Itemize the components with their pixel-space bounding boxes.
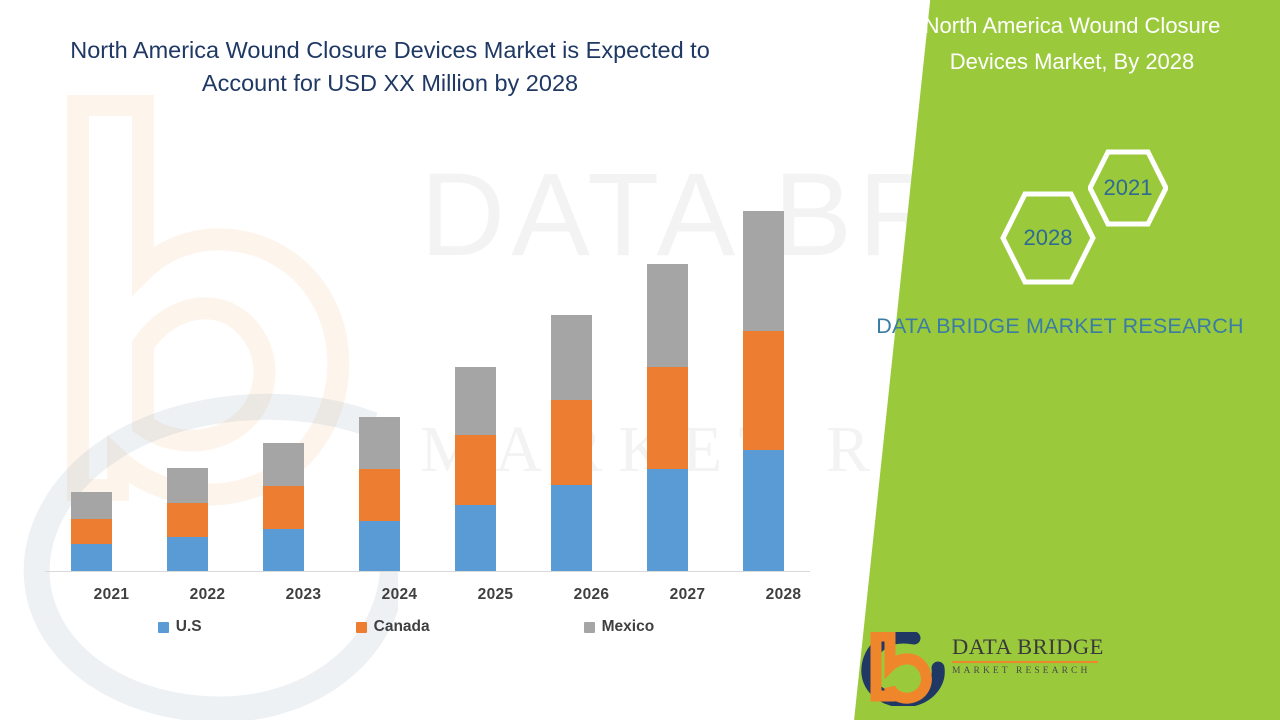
bar-segment-mexico-2027 bbox=[647, 264, 688, 367]
stacked-bar-chart: 20212022202320242025202620272028 bbox=[0, 0, 860, 720]
bar-2026 bbox=[551, 315, 592, 571]
x-axis-label-2026: 2026 bbox=[537, 586, 647, 604]
bar-2022 bbox=[167, 468, 208, 571]
bar-segment-mexico-2025 bbox=[455, 367, 496, 435]
panel-brand-text: DATA BRIDGE MARKET RESEARCH bbox=[860, 310, 1260, 342]
bar-segment-us-2028 bbox=[743, 450, 784, 571]
legend-label: U.S bbox=[176, 618, 202, 636]
hexagon-2021: 2021 bbox=[1088, 148, 1168, 228]
hexagon-2021-label: 2021 bbox=[1088, 148, 1168, 228]
logo-divider bbox=[952, 661, 1098, 663]
hexagon-2028-label: 2028 bbox=[1000, 190, 1096, 286]
x-axis-label-2022: 2022 bbox=[153, 586, 263, 604]
green-background-shape bbox=[840, 0, 1280, 720]
legend-swatch-icon bbox=[158, 622, 169, 633]
logo-sub-text: MARKET RESEARCH bbox=[952, 666, 1102, 676]
x-axis-label-2027: 2027 bbox=[633, 586, 743, 604]
bar-segment-canada-2021 bbox=[71, 519, 112, 544]
infographic-root: DATA BRIDGE MARKET RESEARCH North Americ… bbox=[0, 0, 1280, 720]
x-axis-label-2023: 2023 bbox=[249, 586, 359, 604]
bar-2023 bbox=[263, 443, 304, 571]
legend-label: Canada bbox=[374, 618, 430, 636]
x-axis-label-2025: 2025 bbox=[441, 586, 551, 604]
bar-segment-canada-2027 bbox=[647, 367, 688, 469]
chart-panel: North America Wound Closure Devices Mark… bbox=[0, 0, 860, 720]
panel-title: North America Wound Closure Devices Mark… bbox=[882, 8, 1262, 80]
bar-2024 bbox=[359, 417, 400, 571]
x-axis-label-2028: 2028 bbox=[729, 586, 839, 604]
bar-segment-mexico-2026 bbox=[551, 315, 592, 400]
legend-item-us[interactable]: U.S bbox=[158, 618, 202, 636]
logo-text-block: DATA BRIDGE MARKET RESEARCH bbox=[952, 634, 1102, 676]
x-axis-label-2024: 2024 bbox=[345, 586, 455, 604]
bar-segment-mexico-2024 bbox=[359, 417, 400, 469]
legend-swatch-icon bbox=[584, 622, 595, 633]
bar-segment-canada-2026 bbox=[551, 400, 592, 485]
hexagon-outline-icon bbox=[1000, 190, 1096, 286]
legend-item-mexico[interactable]: Mexico bbox=[584, 618, 655, 636]
legend-label: Mexico bbox=[602, 618, 655, 636]
bar-2028 bbox=[743, 211, 784, 571]
bar-segment-mexico-2022 bbox=[167, 468, 208, 503]
bar-segment-us-2026 bbox=[551, 485, 592, 571]
bar-segment-us-2021 bbox=[71, 544, 112, 571]
bar-segment-canada-2023 bbox=[263, 486, 304, 529]
bar-segment-mexico-2021 bbox=[71, 492, 112, 519]
bar-2021 bbox=[71, 492, 112, 571]
legend-swatch-icon bbox=[356, 622, 367, 633]
bar-segment-us-2025 bbox=[455, 505, 496, 571]
databridge-b-mark-icon bbox=[860, 632, 948, 706]
bar-segment-mexico-2023 bbox=[263, 443, 304, 486]
bar-segment-us-2023 bbox=[263, 529, 304, 571]
databridge-logo: DATA BRIDGE MARKET RESEARCH bbox=[860, 632, 1090, 708]
legend-item-canada[interactable]: Canada bbox=[356, 618, 430, 636]
chart-legend: U.SCanadaMexico bbox=[0, 618, 812, 636]
x-axis-label-2021: 2021 bbox=[57, 586, 167, 604]
hexagon-2028: 2028 bbox=[1000, 190, 1096, 286]
bar-segment-canada-2025 bbox=[455, 435, 496, 505]
bar-segment-us-2022 bbox=[167, 537, 208, 571]
bar-2027 bbox=[647, 264, 688, 571]
bar-segment-us-2027 bbox=[647, 469, 688, 571]
bar-segment-canada-2022 bbox=[167, 503, 208, 537]
logo-main-text: DATA BRIDGE bbox=[952, 634, 1102, 660]
bar-segment-mexico-2028 bbox=[743, 211, 784, 331]
x-axis-line bbox=[45, 571, 810, 572]
bar-segment-canada-2028 bbox=[743, 331, 784, 450]
bar-2025 bbox=[455, 367, 496, 571]
bar-segment-us-2024 bbox=[359, 521, 400, 571]
bar-segment-canada-2024 bbox=[359, 469, 400, 521]
hexagon-outline-icon bbox=[1088, 148, 1168, 228]
